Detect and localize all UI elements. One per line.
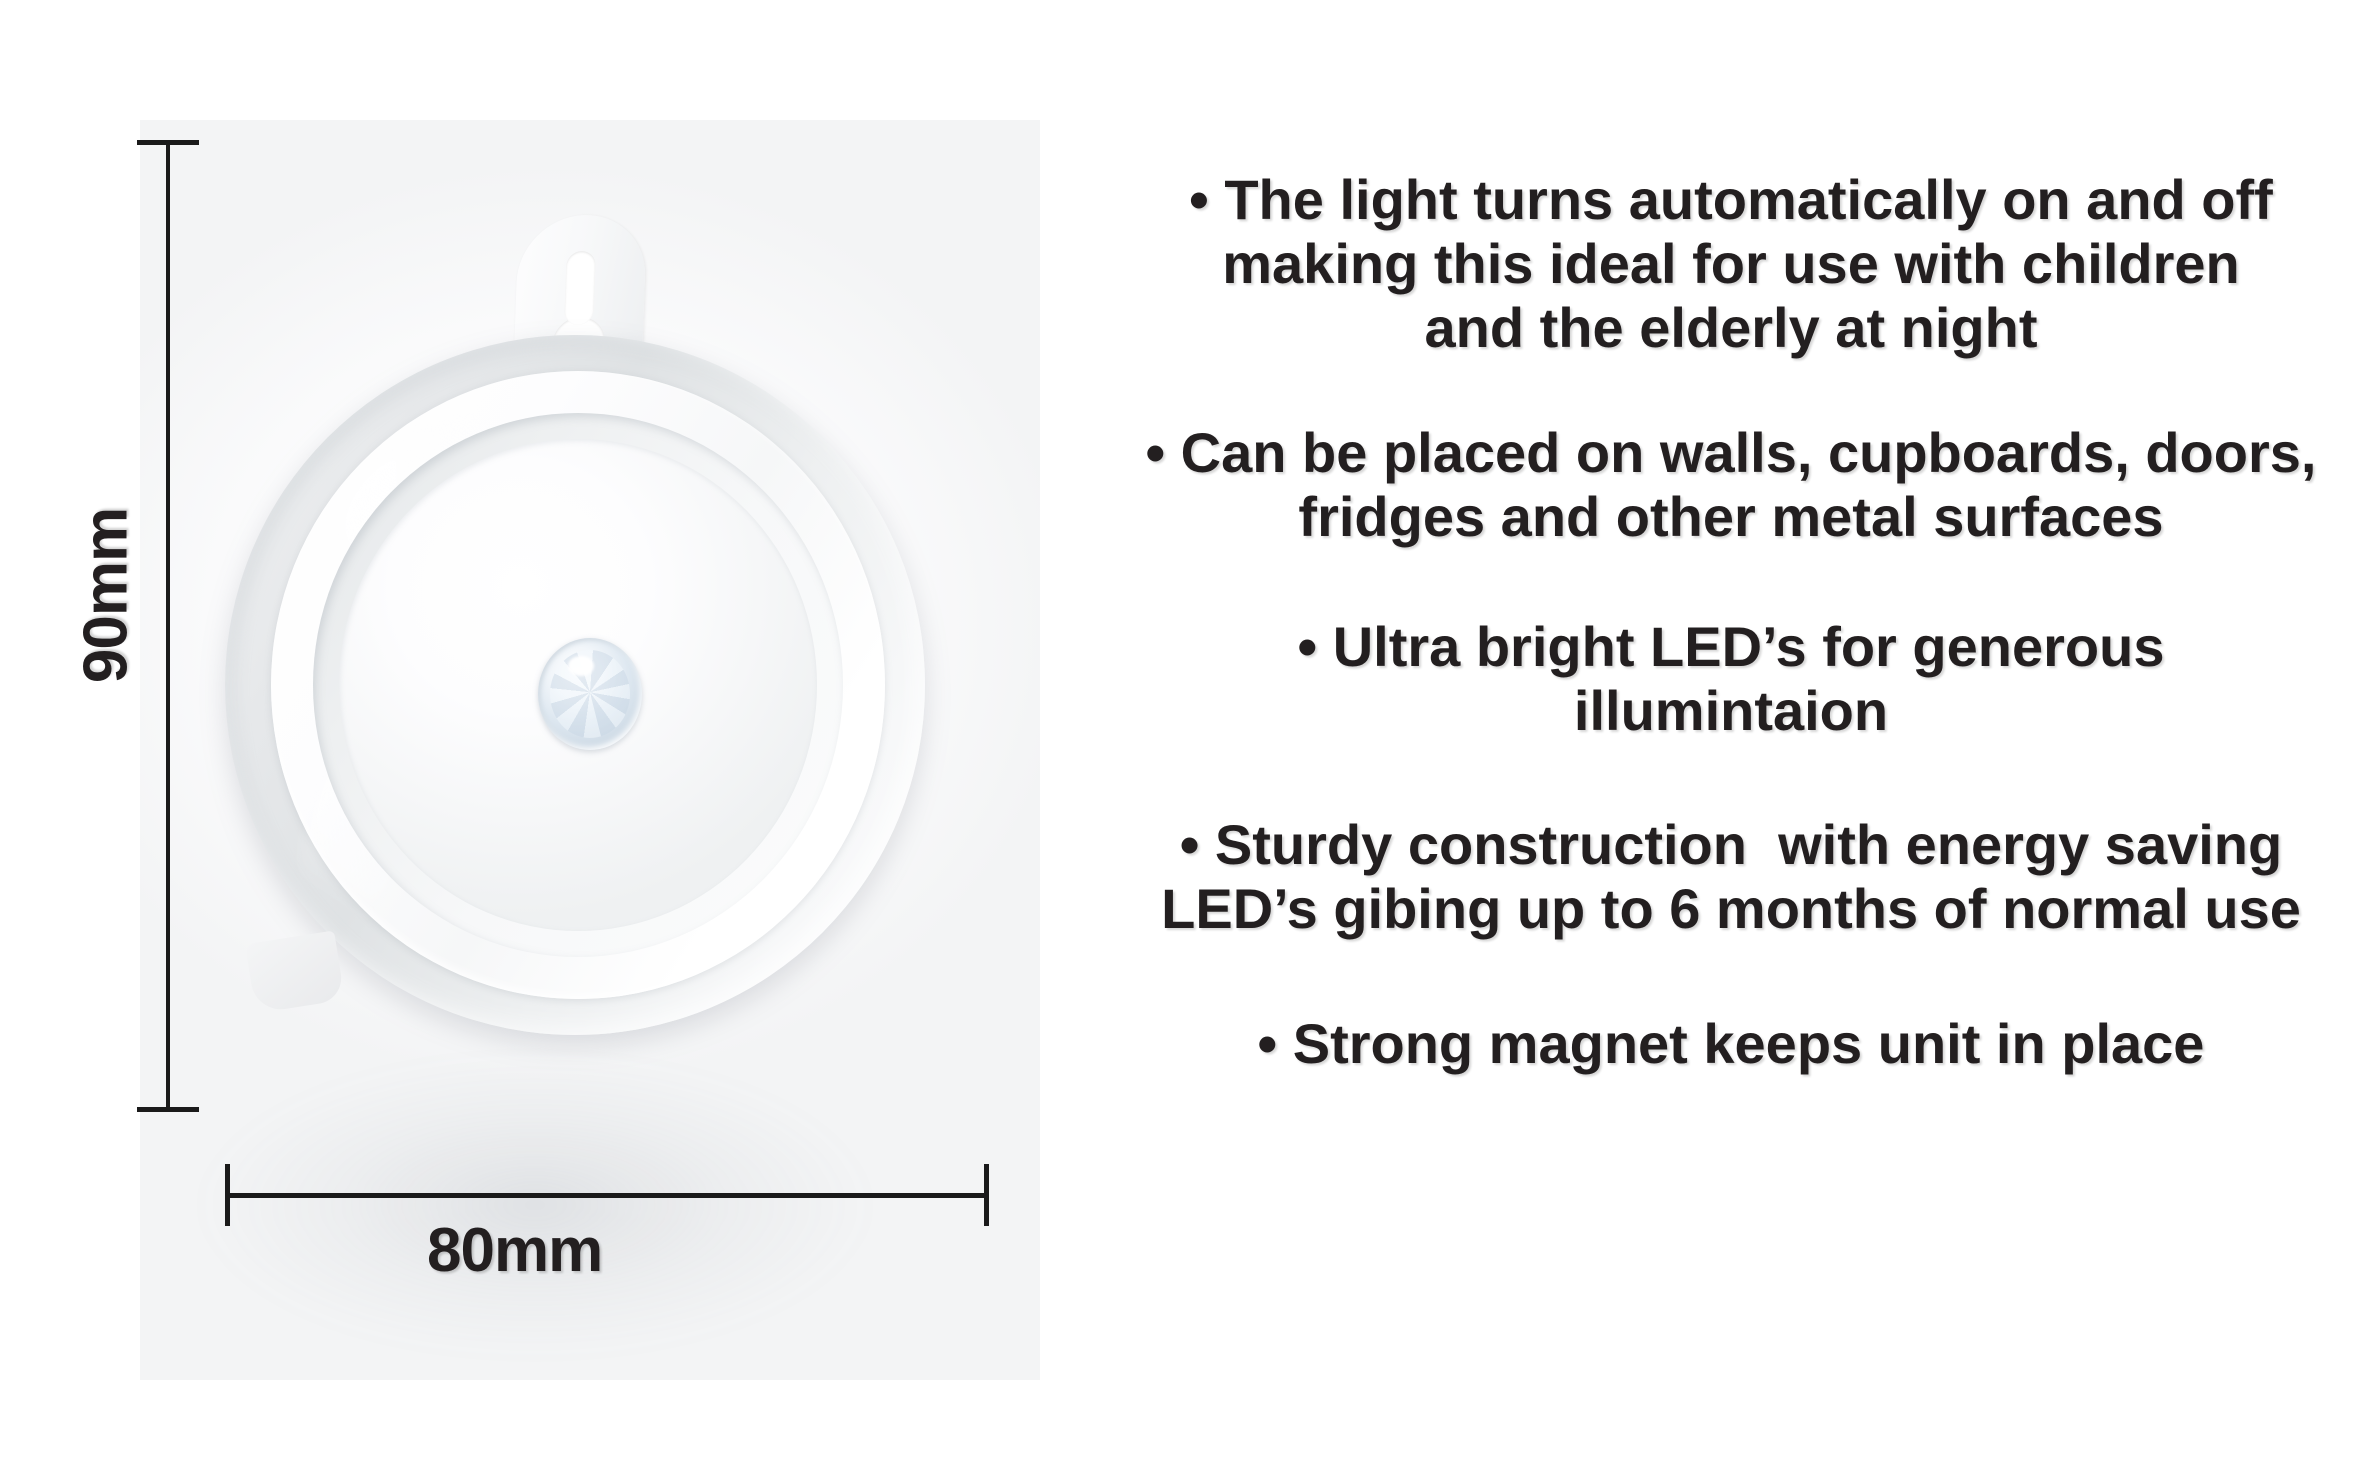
led-diffuser-face: [339, 439, 817, 931]
feature-bullet-auto-on-off: • The light turns automatically on and o…: [1100, 168, 2362, 359]
feature-list: • The light turns automatically on and o…: [1100, 0, 2362, 1484]
width-dimension-label: 80mm: [427, 1215, 787, 1286]
height-dimension-label: 90mm: [71, 466, 142, 726]
product-image-panel: 90mm 80mm: [0, 0, 1100, 1484]
feature-bullet-ultra-bright: • Ultra bright LED’s for generous illumi…: [1100, 615, 2362, 743]
pir-motion-sensor-icon: [538, 638, 642, 750]
width-dimension-cap-right: [984, 1164, 989, 1226]
night-light-device: [225, 215, 985, 1115]
feature-bullet-strong-magnet: • Strong magnet keeps unit in place: [1100, 1012, 2362, 1076]
feature-bullet-battery-life: • Sturdy construction with energy saving…: [1100, 813, 2362, 941]
width-dimension-line: [227, 1193, 987, 1198]
housing-outer-rim: [225, 335, 925, 1035]
product-infographic: 90mm 80mm • The light turns automaticall…: [0, 0, 2362, 1484]
housing-recessed-channel: [313, 413, 843, 957]
height-dimension-cap-bottom: [137, 1107, 199, 1112]
feature-bullet-placement: • Can be placed on walls, cupboards, doo…: [1100, 421, 2362, 549]
housing-white-ring: [271, 371, 885, 999]
height-dimension-line: [166, 140, 170, 1112]
